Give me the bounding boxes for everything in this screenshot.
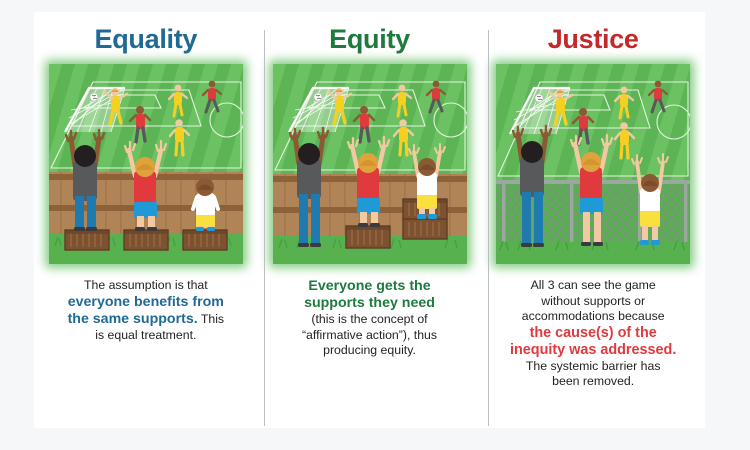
infographic-root: Equality xyxy=(0,0,750,450)
caption-line: accommodations because xyxy=(495,309,691,325)
caption-line: producing equity. xyxy=(272,343,468,359)
caption-line: (this is the concept of xyxy=(272,312,468,328)
panel-equity: Equity xyxy=(258,12,482,428)
caption-line: All 3 can see the game xyxy=(495,278,691,294)
caption-line: is equal treatment. xyxy=(48,328,244,344)
caption-equity: Everyone gets the supports they need (th… xyxy=(272,278,468,359)
panel-divider-2 xyxy=(488,30,489,426)
caption-line: The assumption is that xyxy=(48,278,244,294)
panel-title-justice: Justice xyxy=(548,26,639,53)
caption-line-highlight: the same supports. xyxy=(68,311,198,327)
illustration-equality xyxy=(49,64,243,264)
illustration-justice xyxy=(496,64,690,264)
illustration-canvas-equity xyxy=(273,64,467,264)
caption-line-highlight: supports they need xyxy=(272,295,468,312)
caption-line-trailing: This xyxy=(198,312,224,326)
caption-justice: All 3 can see the game without supports … xyxy=(495,278,691,390)
caption-line: “affirmative action”), thus xyxy=(272,328,468,344)
caption-line: without supports or xyxy=(495,294,691,310)
illustration-canvas-justice xyxy=(496,64,690,264)
caption-equality: The assumption is that everyone benefits… xyxy=(48,278,244,343)
caption-line-highlight: the cause(s) of the xyxy=(495,325,691,342)
panel-container: Equality xyxy=(34,12,705,428)
panel-title-equality: Equality xyxy=(95,26,198,53)
panel-divider-1 xyxy=(264,30,265,426)
caption-line-highlight: everyone benefits from xyxy=(48,294,244,311)
illustration-canvas-equality xyxy=(49,64,243,264)
infographic-card: Equality xyxy=(34,12,705,428)
panel-justice: Justice xyxy=(481,12,705,428)
caption-line: The systemic barrier has xyxy=(495,359,691,375)
panel-equality: Equality xyxy=(34,12,258,428)
panel-title-equity: Equity xyxy=(329,26,410,53)
caption-line: been removed. xyxy=(495,374,691,390)
caption-line-highlight: inequity was addressed. xyxy=(495,342,691,359)
illustration-equity xyxy=(273,64,467,264)
caption-line-highlight: Everyone gets the xyxy=(272,278,468,295)
